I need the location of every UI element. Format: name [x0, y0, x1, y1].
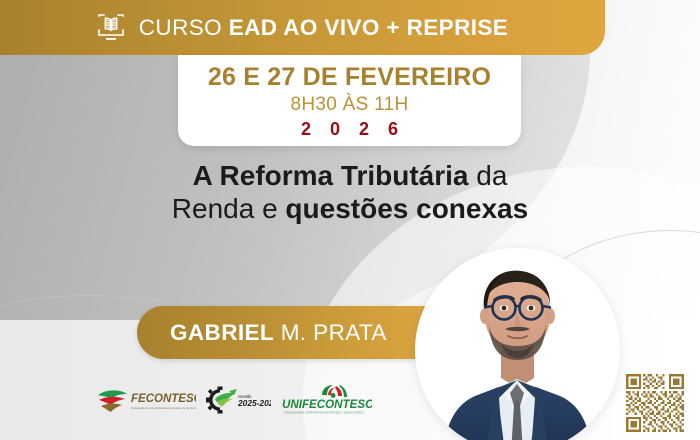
- svg-text:UNIFECONTESC: UNIFECONTESC: [282, 398, 372, 411]
- svg-text:UNIVERSIDADE CORPORATIVA FECON: UNIVERSIDADE CORPORATIVA FECONTESC / SIN…: [284, 411, 364, 415]
- speaker-last-name: M. PRATA: [274, 320, 387, 345]
- date-card: 26 E 27 DE FEVEREIRO 8H30 ÀS 11H 2 0 2 6: [178, 55, 521, 146]
- course-title-line-2: Renda e questões conexas: [60, 193, 640, 226]
- event-banner: CURSO EAD AO VIVO + REPRISE 26 E 27 DE F…: [0, 0, 700, 440]
- event-time: 8H30 ÀS 11H: [290, 94, 408, 116]
- svg-text:2025-2027: 2025-2027: [237, 398, 271, 408]
- header-title-light: CURSO: [139, 15, 229, 40]
- book-on-screen-icon: [97, 13, 125, 43]
- event-date: 26 E 27 DE FEVEREIRO: [208, 63, 491, 92]
- course-title-bold-1: A Reforma Tributária: [193, 160, 469, 191]
- qr-code[interactable]: [624, 372, 686, 434]
- speaker-portrait: [415, 248, 620, 440]
- course-title-bold-2: questões conexas: [285, 193, 528, 224]
- header-bar: CURSO EAD AO VIVO + REPRISE: [0, 0, 605, 55]
- course-title-regular-1: da: [468, 160, 507, 191]
- speaker-first-name: GABRIEL: [170, 320, 274, 345]
- event-year: 2 0 2 6: [294, 119, 405, 140]
- course-title: A Reforma Tributária da Renda e questões…: [0, 160, 700, 226]
- svg-text:FECONTESC: FECONTESC: [131, 393, 196, 405]
- svg-text:Federação dos Contabilistas do: Federação dos Contabilistas do Estado de…: [131, 406, 196, 410]
- unifecontesc-logo: UNIFECONTESC UNIVERSIDADE CORPORATIVA FE…: [280, 384, 372, 416]
- partner-logos: FECONTESC Federação dos Contabilistas do…: [96, 381, 364, 419]
- fecontesc-logo: FECONTESC Federação dos Contabilistas do…: [96, 385, 196, 415]
- speaker-name: GABRIEL M. PRATA: [170, 320, 387, 346]
- header-title: CURSO EAD AO VIVO + REPRISE: [139, 15, 508, 41]
- gestao-logo: Gestão 2025-2027: [205, 385, 271, 415]
- header-title-bold: EAD AO VIVO + REPRISE: [229, 15, 509, 40]
- course-title-regular-2: Renda e: [172, 193, 286, 224]
- course-title-line-1: A Reforma Tributária da: [60, 160, 640, 193]
